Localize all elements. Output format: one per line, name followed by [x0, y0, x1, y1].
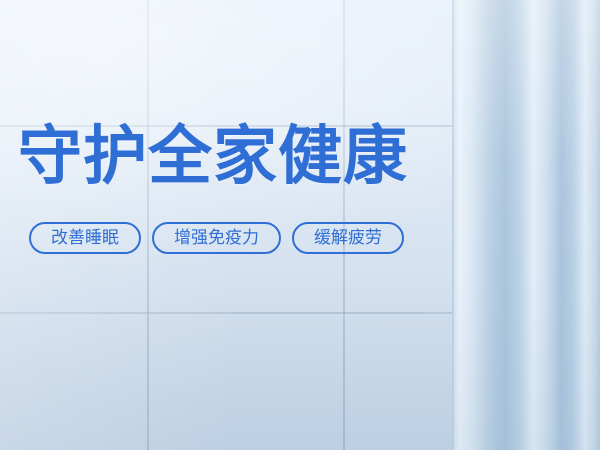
health-promo-banner: 守护全家健康 改善睡眠 增强免疫力 缓解疲劳 [0, 0, 600, 450]
feature-pill-relieve-fatigue[interactable]: 缓解疲劳 [292, 222, 404, 254]
feature-pill-row: 改善睡眠 增强免疫力 缓解疲劳 [29, 222, 404, 254]
column-gloss-overlay [452, 0, 600, 450]
page-title: 守护全家健康 [18, 122, 408, 192]
glossy-column [452, 0, 600, 450]
feature-pill-boost-immunity[interactable]: 增强免疫力 [152, 222, 281, 254]
feature-pill-improve-sleep[interactable]: 改善睡眠 [29, 222, 141, 254]
